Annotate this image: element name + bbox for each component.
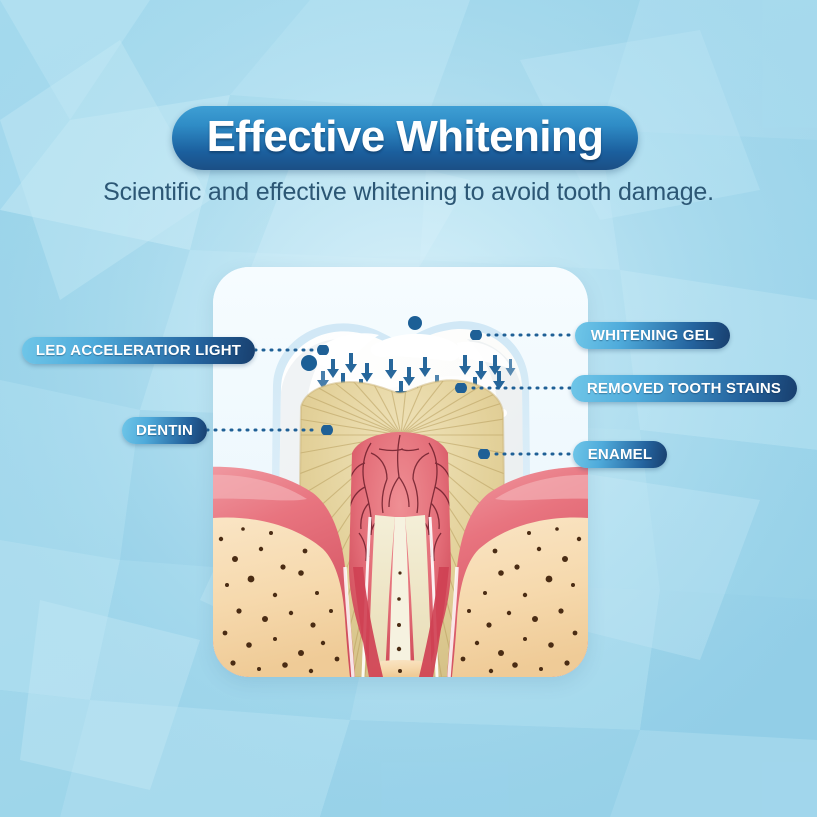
connector-dentin [207, 425, 337, 435]
label-led-acceleratior-light[interactable]: LED ACCELERATIOR LIGHT [22, 337, 255, 364]
page-subtitle: Scientific and effective whitening to av… [0, 178, 817, 207]
label-removed-tooth-stains[interactable]: REMOVED TOOTH STAINS [571, 375, 797, 402]
title-pill: Effective Whitening [172, 106, 638, 170]
label-text-led-acceleratior-light: LED ACCELERATIOR LIGHT [36, 343, 241, 358]
connector-led-acceleratior-light [255, 345, 335, 355]
label-text-enamel: ENAMEL [588, 447, 653, 462]
page-title: Effective Whitening [207, 115, 604, 162]
label-text-whitening-gel: WHITENING GEL [591, 328, 714, 343]
connector-whitening-gel [470, 330, 580, 340]
infographic-poster: Effective Whitening Scientific and effec… [0, 0, 817, 817]
connector-enamel [478, 449, 578, 459]
label-text-dentin: DENTIN [136, 423, 193, 438]
tooth-cross-section-illustration [213, 267, 588, 677]
label-text-removed-tooth-stains: REMOVED TOOTH STAINS [587, 381, 781, 396]
label-whitening-gel[interactable]: WHITENING GEL [575, 322, 730, 349]
connector-removed-tooth-stains [455, 383, 575, 393]
tooth-diagram-card [213, 267, 588, 677]
label-dentin[interactable]: DENTIN [122, 417, 207, 444]
label-enamel[interactable]: ENAMEL [573, 441, 667, 468]
